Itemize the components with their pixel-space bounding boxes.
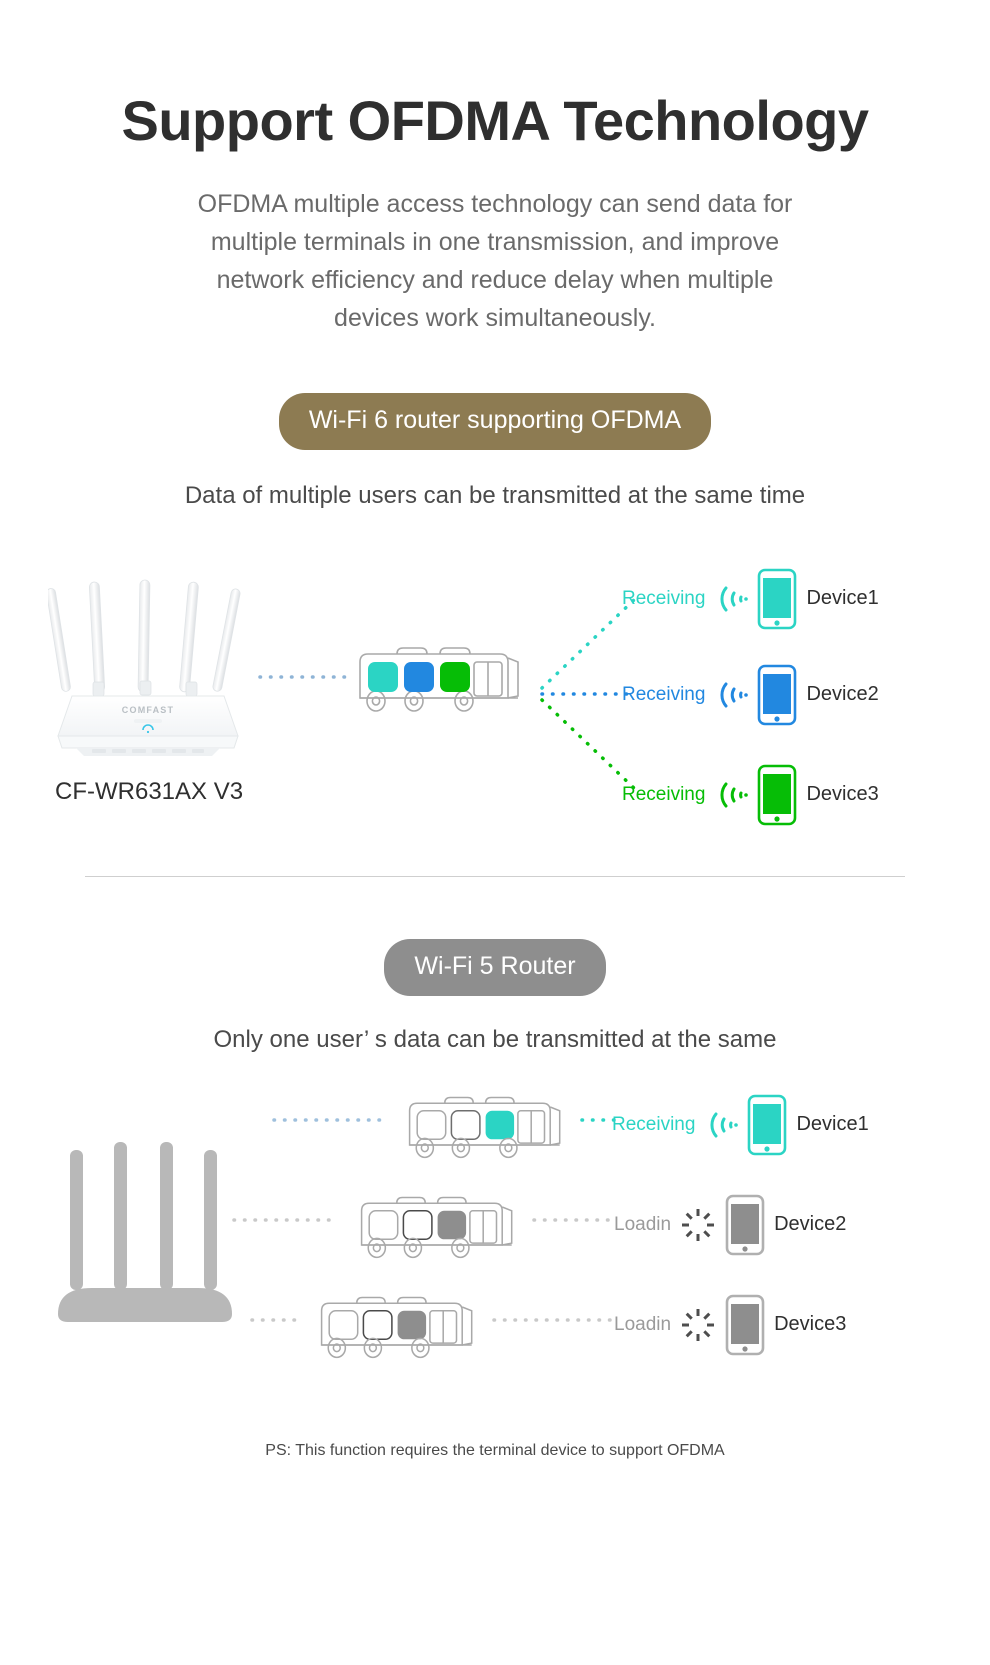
device-label: Device3: [806, 783, 878, 806]
router-brand-text: COMFAST: [122, 705, 174, 715]
wifi5-row3-connector-left: [250, 1314, 304, 1326]
router-to-bus-connector: [258, 672, 348, 682]
section-divider: [85, 876, 905, 877]
wifi6-device-row-3: Receiving Device3: [622, 764, 879, 826]
wifi5-device-row-2: Loadin Device2: [614, 1194, 846, 1256]
status-label: Receiving: [622, 684, 705, 706]
wifi6-device-row-2: Receiving Device2: [622, 664, 879, 726]
device-label: Device2: [774, 1213, 846, 1236]
status-label: Receiving: [612, 1114, 695, 1136]
cargo-block-2: [404, 662, 434, 692]
loading-spinner-icon: [680, 1307, 716, 1343]
device-label: Device1: [806, 587, 878, 610]
wifi6-device-row-1: Receiving Device1: [622, 568, 879, 630]
wifi-signal-icon: [714, 584, 748, 614]
page-header: Support OFDMA Technology OFDMA multiple …: [0, 0, 990, 337]
cargo-block-3: [440, 662, 470, 692]
wifi6-router-model: CF-WR631AX V3: [55, 778, 243, 806]
status-label: Loadin: [614, 1214, 671, 1236]
subtitle-line: network efficiency and reduce delay when…: [0, 261, 990, 299]
wifi5-diagram: Receiving Device1: [0, 1080, 990, 1390]
cargo-block-1: [368, 662, 398, 692]
device-phone-icon: [757, 664, 797, 726]
wifi6-badge: Wi-Fi 6 router supporting OFDMA: [279, 393, 711, 450]
wifi6-router-image: COMFAST: [48, 574, 288, 774]
footer-note: PS: This function requires the terminal …: [0, 1442, 990, 1460]
wifi6-diagram: COMFAST CF-WR631AX V3: [0, 546, 990, 846]
device-label: Device1: [796, 1113, 868, 1136]
subtitle-line: multiple terminals in one transmission, …: [0, 223, 990, 261]
cargo-block-active: [486, 1111, 514, 1140]
status-label: Receiving: [622, 588, 705, 610]
wifi5-row3-connector-right: [492, 1314, 616, 1326]
status-label: Receiving: [622, 784, 705, 806]
wifi5-transport-bus-3: [312, 1288, 487, 1364]
wifi-signal-icon: [714, 680, 748, 710]
wifi5-transport-bus-1: [400, 1088, 575, 1164]
page-subtitle: OFDMA multiple access technology can sen…: [0, 185, 990, 337]
subtitle-line: OFDMA multiple access technology can sen…: [0, 185, 990, 223]
loading-spinner-icon: [680, 1207, 716, 1243]
wifi6-note: Data of multiple users can be transmitte…: [0, 482, 990, 510]
wifi5-transport-bus-2: [352, 1188, 527, 1264]
wifi5-row2-connector-right: [532, 1214, 616, 1226]
wifi5-row1-connector-left: [272, 1114, 390, 1126]
wifi5-router-image: [52, 1128, 262, 1338]
device-phone-icon: [725, 1294, 765, 1356]
wifi6-badge-container: Wi-Fi 6 router supporting OFDMA: [0, 393, 990, 450]
wifi6-transport-bus: [352, 638, 532, 718]
device-label: Device2: [806, 683, 878, 706]
wifi5-device-row-1: Receiving Device1: [612, 1094, 869, 1156]
cargo-block-loading: [438, 1211, 467, 1240]
cargo-block-loading: [398, 1311, 427, 1340]
device-label: Device3: [774, 1313, 846, 1336]
status-label: Loadin: [614, 1314, 671, 1336]
device-phone-icon: [725, 1194, 765, 1256]
wifi5-device-row-3: Loadin Device3: [614, 1294, 846, 1356]
wifi-signal-icon: [704, 1110, 738, 1140]
subtitle-line: devices work simultaneously.: [0, 299, 990, 337]
wifi5-note: Only one user’ s data can be transmitted…: [0, 1026, 990, 1054]
device-phone-icon: [757, 568, 797, 630]
page-title: Support OFDMA Technology: [0, 92, 990, 151]
wifi5-row1-connector-right: [580, 1114, 616, 1126]
wifi-signal-icon: [714, 780, 748, 810]
wifi5-badge: Wi-Fi 5 Router: [384, 939, 605, 996]
wifi5-row2-connector-left: [232, 1214, 340, 1226]
device-phone-icon: [747, 1094, 787, 1156]
device-phone-icon: [757, 764, 797, 826]
wifi5-badge-container: Wi-Fi 5 Router: [0, 939, 990, 996]
